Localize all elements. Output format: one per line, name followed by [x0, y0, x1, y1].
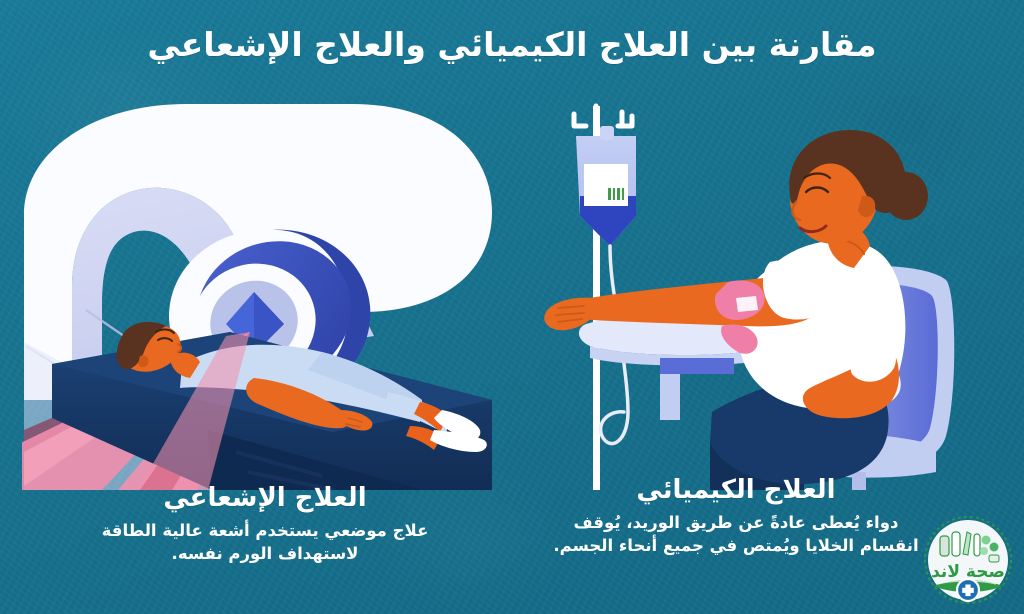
logo-graphic: صحة لاند [922, 514, 1014, 606]
sehha-land-logo[interactable]: صحة لاند [922, 514, 1014, 606]
chemotherapy-scene [532, 100, 1002, 490]
chemo-illustration [532, 100, 1002, 490]
radiation-illustration [22, 100, 508, 490]
page-title: مقارنة بين العلاج الكيميائي والعلاج الإش… [0, 26, 1024, 64]
iv-bag [576, 126, 636, 246]
iv-bag-label [584, 164, 628, 206]
infographic-poster: مقارنة بين العلاج الكيميائي والعلاج الإش… [0, 0, 1024, 614]
iv-pole-hooks [574, 106, 632, 126]
chemo-caption-body: دواء يُعطى عادةً عن طريق الوريد، يُوقف ا… [536, 511, 936, 558]
radiation-caption-body: علاج موضعي يستخدم أشعة عالية الطاقة لاست… [40, 519, 490, 566]
radiation-caption: العلاج الإشعاعي علاج موضعي يستخدم أشعة ع… [40, 484, 490, 565]
iv-dressing [736, 296, 758, 312]
radiation-therapy-scene [22, 100, 508, 490]
patient-hair-bun [884, 172, 928, 220]
arm-rest-post [660, 358, 734, 374]
chemo-caption: العلاج الكيميائي دواء يُعطى عادةً عن طري… [536, 476, 936, 557]
chemo-caption-heading: العلاج الكيميائي [536, 476, 936, 505]
radiation-caption-heading: العلاج الإشعاعي [40, 484, 490, 513]
